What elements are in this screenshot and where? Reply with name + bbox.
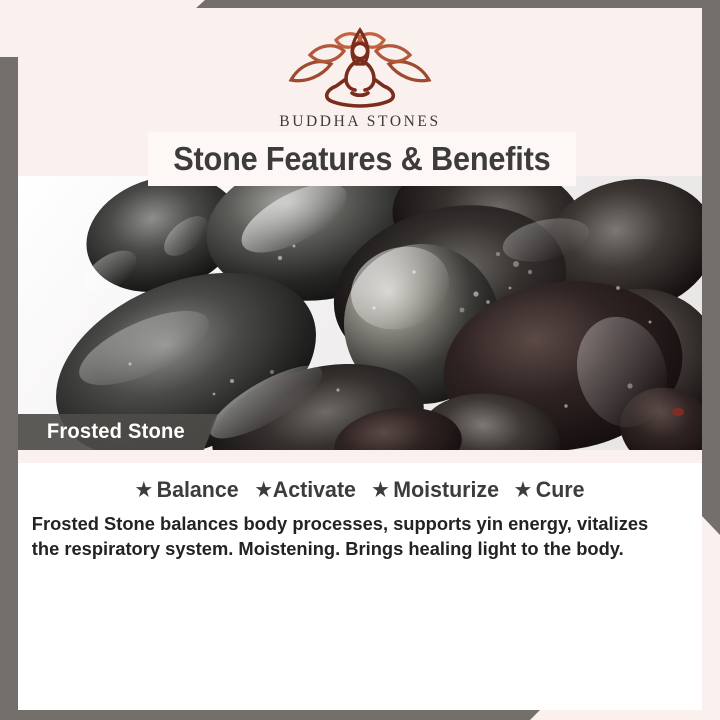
title-banner: Stone Features & Benefits xyxy=(148,132,576,186)
page-title: Stone Features & Benefits xyxy=(173,140,550,178)
brand-logo: BUDDHA STONES xyxy=(18,24,702,131)
lotus-meditation-icon xyxy=(276,24,444,110)
benefit-item-balance: ★ Balance xyxy=(136,477,239,503)
stone-photo-illustration xyxy=(18,176,702,450)
frosted-stone-photo: Frosted Stone xyxy=(18,176,702,450)
star-icon: ★ xyxy=(255,481,271,500)
benefit-label: Activate xyxy=(272,477,355,503)
benefit-label: Balance xyxy=(157,477,239,503)
star-icon: ★ xyxy=(136,481,152,500)
outer-frame: BUDDHA STONES Stone Features & Benefits xyxy=(0,0,720,720)
brand-name: BUDDHA STONES xyxy=(18,113,702,131)
stone-tag: Frosted Stone xyxy=(18,414,218,450)
benefit-item-cure: ★ Cure xyxy=(515,477,585,503)
benefit-item-activate: ★ Activate xyxy=(255,477,355,503)
star-icon: ★ xyxy=(372,481,388,500)
benefit-item-moisturize: ★ Moisturize xyxy=(372,477,499,503)
benefits-list: ★ Balance ★ Activate ★ Moisturize ★ Cure xyxy=(18,477,702,503)
description-text: Frosted Stone balances body processes, s… xyxy=(18,512,692,561)
star-icon: ★ xyxy=(515,481,531,500)
photo-underline-band xyxy=(18,450,702,463)
benefit-label: Cure xyxy=(536,477,585,503)
card-content: ★ Balance ★ Activate ★ Moisturize ★ Cure… xyxy=(18,463,702,561)
benefit-label: Moisturize xyxy=(393,477,499,503)
stone-tag-label: Frosted Stone xyxy=(47,420,185,444)
content-card: BUDDHA STONES Stone Features & Benefits xyxy=(18,8,702,710)
